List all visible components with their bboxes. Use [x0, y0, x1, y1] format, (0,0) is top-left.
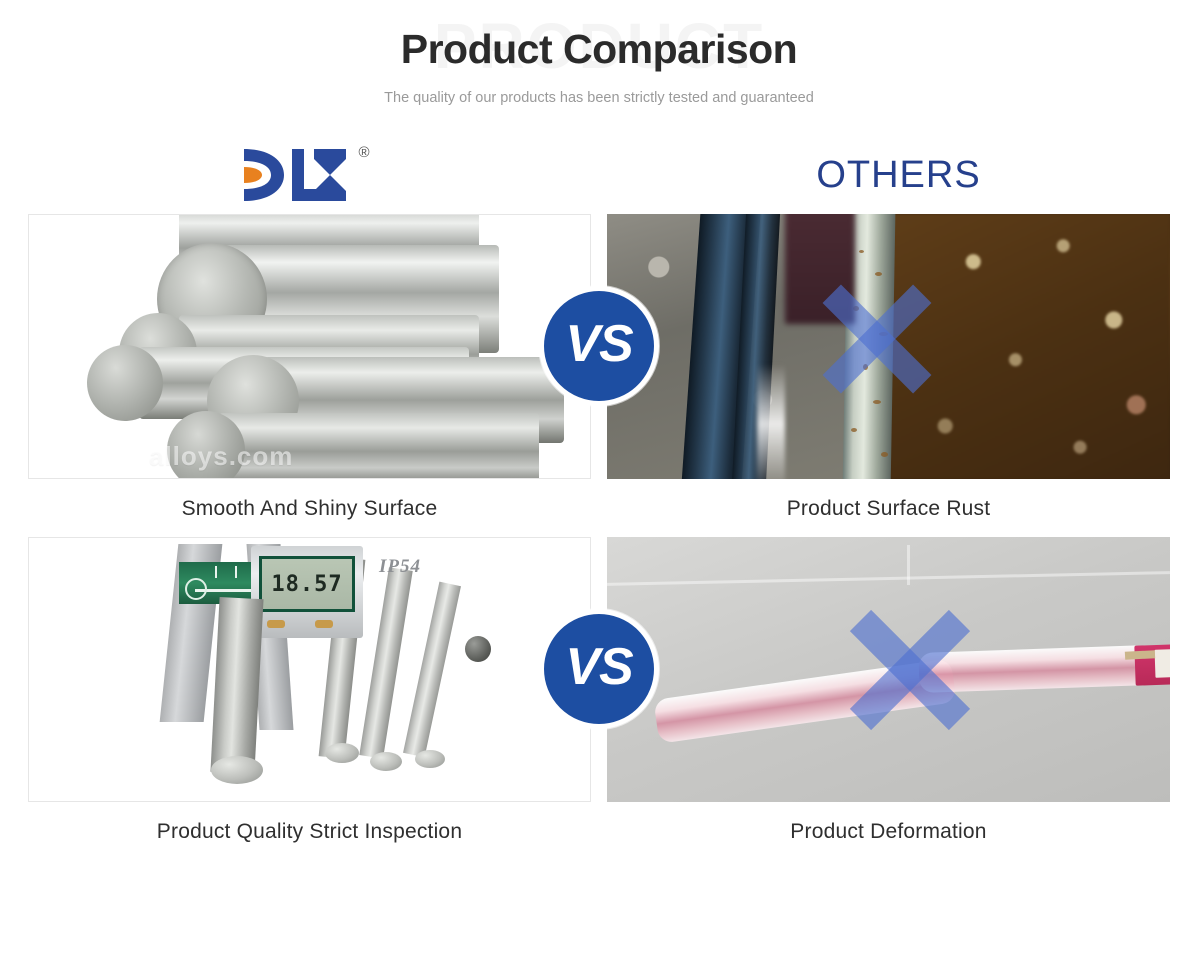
photo-quality-strict-inspection: 18.57 IP54 — [28, 537, 591, 802]
dlx-logo-icon — [240, 145, 352, 205]
product-label — [1155, 649, 1170, 679]
vs-badge-1: VS — [539, 286, 659, 406]
caption-bad-1: Product Surface Rust — [607, 479, 1170, 521]
caliper-lcd: 18.57 — [259, 556, 355, 612]
product-comparison-page: PRODUCT Product Comparison The quality o… — [0, 0, 1198, 968]
others-label: OTHERS — [816, 154, 980, 197]
floor-seam — [907, 545, 910, 585]
comparison-cell-good-2: 18.57 IP54 Product Quality Strict Inspec… — [28, 537, 599, 844]
wrapped-bent-rod — [653, 659, 956, 744]
lcd-reading: 18.57 — [271, 572, 342, 597]
photo-product-deformation — [607, 537, 1170, 802]
comparison-grid: alloys.com Smooth And Shiny Surface — [0, 214, 1198, 844]
caliper-ip-rating: IP54 — [379, 556, 421, 578]
caliper-button[interactable] — [267, 620, 285, 628]
caption-good-1: Smooth And Shiny Surface — [28, 479, 591, 521]
brand-cell-ours: ® — [0, 136, 599, 214]
dlx-logo: ® — [240, 145, 360, 205]
vs-badge-2: VS — [539, 609, 659, 729]
vs-label: VS — [565, 318, 632, 370]
background-object — [785, 214, 855, 324]
comparison-cell-bad-1: Product Surface Rust — [599, 214, 1170, 521]
steel-rod-end — [370, 752, 402, 771]
steel-bar-face — [87, 345, 163, 421]
comparison-row-1: alloys.com Smooth And Shiny Surface — [28, 214, 1170, 521]
image-watermark: alloys.com — [149, 441, 293, 472]
page-title: Product Comparison — [0, 22, 1198, 77]
registered-trademark-icon: ® — [358, 145, 369, 160]
wrapped-bent-rod — [918, 645, 1149, 693]
soil-background — [889, 214, 1171, 479]
steel-rod — [359, 568, 412, 759]
caption-good-2: Product Quality Strict Inspection — [28, 802, 591, 844]
floor-seam — [607, 571, 1170, 586]
steel-rod-end — [325, 743, 359, 763]
steel-rod-end — [415, 750, 445, 768]
photo-product-surface-rust — [607, 214, 1170, 479]
page-header: PRODUCT Product Comparison The quality o… — [0, 0, 1198, 106]
brand-cell-others: OTHERS — [599, 136, 1198, 214]
comparison-cell-good-1: alloys.com Smooth And Shiny Surface — [28, 214, 599, 521]
vs-label: VS — [565, 641, 632, 693]
caption-bad-2: Product Deformation — [607, 802, 1170, 844]
brand-row: ® OTHERS — [0, 136, 1198, 214]
light-gap — [757, 364, 785, 479]
comparison-row-2: 18.57 IP54 Product Quality Strict Inspec… — [28, 537, 1170, 844]
comparison-cell-bad-2: Product Deformation — [599, 537, 1170, 844]
photo-smooth-shiny-surface: alloys.com — [28, 214, 591, 479]
caliper-button[interactable] — [315, 620, 333, 628]
steel-rod — [403, 582, 461, 758]
page-subtitle: The quality of our products has been str… — [0, 90, 1198, 106]
small-rod-end — [465, 636, 491, 662]
measured-rod-end — [211, 756, 263, 784]
measured-steel-rod — [210, 597, 263, 774]
caliper-display-housing: 18.57 — [251, 546, 363, 638]
